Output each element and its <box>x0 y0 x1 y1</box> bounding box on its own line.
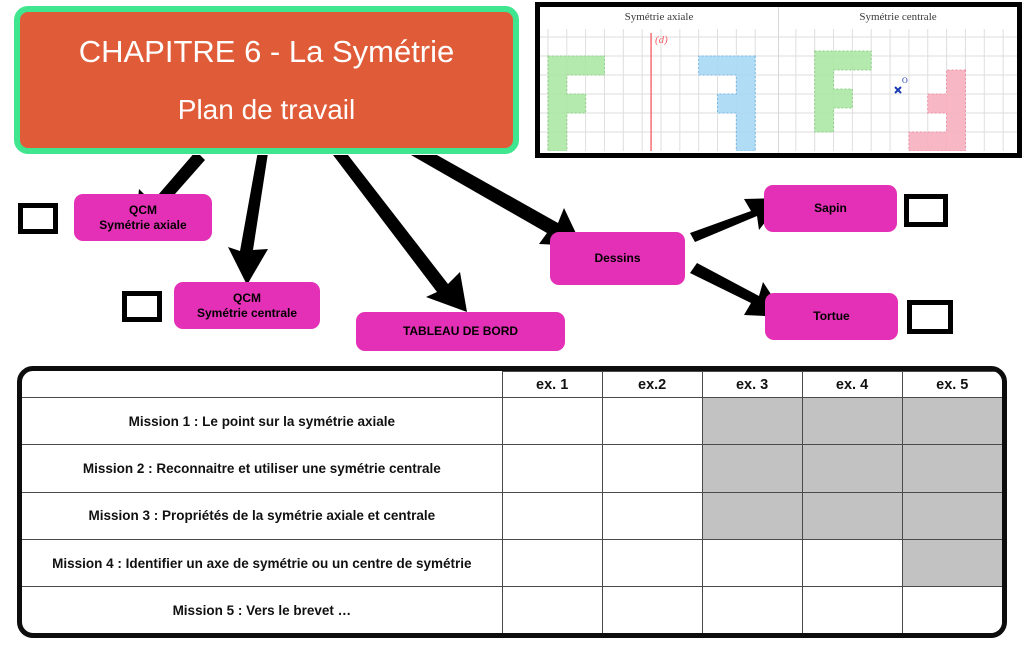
page-title: CHAPITRE 6 - La Symétrie <box>79 34 455 70</box>
symmetry-illustration-panel: Symétrie axiale <box>535 2 1022 158</box>
central-symmetry-figure: Symétrie centrale <box>779 7 1017 153</box>
table-row: Mission 2 : Reconnaitre et utiliser une … <box>22 445 1002 492</box>
mission-column-header <box>22 372 502 398</box>
mission-cell-disabled <box>902 492 1002 539</box>
mission-cell[interactable] <box>802 587 902 633</box>
mission-cell-disabled <box>702 445 802 492</box>
mission-table-container: ex. 1 ex.2 ex. 3 ex. 4 ex. 5 Mission 1 :… <box>17 366 1007 638</box>
mission-cell[interactable] <box>502 398 602 445</box>
table-header-row: ex. 1 ex.2 ex. 3 ex. 4 ex. 5 <box>22 372 1002 398</box>
checkbox-sapin[interactable] <box>904 194 948 227</box>
central-symmetry-canvas: O <box>779 29 1017 151</box>
node-dessins[interactable]: Dessins <box>550 232 685 285</box>
node-qcm-symetrie-axiale[interactable]: QCM Symétrie axiale <box>74 194 212 241</box>
node-line: Dessins <box>594 251 640 266</box>
node-line: TABLEAU DE BORD <box>403 324 518 339</box>
arrow-to-qcm-centrale <box>228 155 268 285</box>
workplan-flowchart: QCM Symétrie axiale QCM Symétrie central… <box>0 155 1024 360</box>
mission-cell-disabled <box>902 445 1002 492</box>
mission-cell[interactable] <box>602 398 702 445</box>
mission-cell-disabled <box>802 445 902 492</box>
mission-table-header: ex. 1 ex.2 ex. 3 ex. 4 ex. 5 <box>22 372 1002 398</box>
center-label: O <box>902 76 908 85</box>
green-f-shape <box>548 56 605 151</box>
node-line: QCM <box>233 291 261 306</box>
node-tortue[interactable]: Tortue <box>765 293 898 340</box>
central-symmetry-svg: O <box>779 29 1017 151</box>
center-of-symmetry-marker: O <box>895 76 908 93</box>
mission-cell[interactable] <box>602 539 702 586</box>
node-line: Tortue <box>813 309 849 324</box>
mission-label: Mission 5 : Vers le brevet … <box>22 587 502 633</box>
node-sapin[interactable]: Sapin <box>764 185 897 232</box>
page-subtitle: Plan de travail <box>178 94 355 126</box>
mission-cell-disabled <box>902 539 1002 586</box>
mission-cell-disabled <box>802 398 902 445</box>
node-tableau-de-bord[interactable]: TABLEAU DE BORD <box>356 312 565 351</box>
column-header-ex3: ex. 3 <box>702 372 802 398</box>
mission-cell[interactable] <box>602 492 702 539</box>
axial-symmetry-canvas: (d) <box>540 29 778 151</box>
axial-symmetry-caption: Symétrie axiale <box>540 11 778 23</box>
table-row: Mission 3 : Propriétés de la symétrie ax… <box>22 492 1002 539</box>
mission-label: Mission 4 : Identifier un axe de symétri… <box>22 539 502 586</box>
mission-cell[interactable] <box>702 539 802 586</box>
mission-cell[interactable] <box>502 587 602 633</box>
mission-cell[interactable] <box>602 445 702 492</box>
mission-label: Mission 2 : Reconnaitre et utiliser une … <box>22 445 502 492</box>
mission-cell[interactable] <box>602 587 702 633</box>
mission-cell[interactable] <box>802 539 902 586</box>
table-row: Mission 5 : Vers le brevet … <box>22 587 1002 633</box>
axial-symmetry-figure: Symétrie axiale <box>540 7 779 153</box>
mission-cell[interactable] <box>502 492 602 539</box>
mission-cell-disabled <box>702 492 802 539</box>
node-line: Sapin <box>814 201 847 216</box>
table-row: Mission 4 : Identifier un axe de symétri… <box>22 539 1002 586</box>
column-header-ex4: ex. 4 <box>802 372 902 398</box>
green-f-shape <box>815 51 872 132</box>
node-line: Symétrie axiale <box>99 218 186 233</box>
node-qcm-symetrie-centrale[interactable]: QCM Symétrie centrale <box>174 282 320 329</box>
mission-table: ex. 1 ex.2 ex. 3 ex. 4 ex. 5 Mission 1 :… <box>22 371 1002 633</box>
mission-table-body: Mission 1 : Le point sur la symétrie axi… <box>22 398 1002 634</box>
checkbox-tortue[interactable] <box>907 300 953 334</box>
central-symmetry-caption: Symétrie centrale <box>779 11 1017 23</box>
node-line: Symétrie centrale <box>197 306 297 321</box>
blue-mirrored-f-shape <box>699 56 756 151</box>
mission-cell[interactable] <box>502 539 602 586</box>
mission-cell-disabled <box>802 492 902 539</box>
mission-label: Mission 1 : Le point sur la symétrie axi… <box>22 398 502 445</box>
checkbox-qcm-symetrie-axiale[interactable] <box>18 203 58 234</box>
chapter-title-card: CHAPITRE 6 - La Symétrie Plan de travail <box>14 6 519 154</box>
column-header-ex2: ex.2 <box>602 372 702 398</box>
pink-rotated-f-shape <box>909 70 966 151</box>
mission-cell-disabled <box>902 398 1002 445</box>
node-line: QCM <box>129 203 157 218</box>
column-header-ex5: ex. 5 <box>902 372 1002 398</box>
mission-cell[interactable] <box>502 445 602 492</box>
mission-cell[interactable] <box>902 587 1002 633</box>
mission-cell[interactable] <box>702 587 802 633</box>
axis-label: (d) <box>655 34 668 46</box>
axial-symmetry-svg: (d) <box>540 29 778 151</box>
checkbox-qcm-symetrie-centrale[interactable] <box>122 291 162 322</box>
column-header-ex1: ex. 1 <box>502 372 602 398</box>
table-row: Mission 1 : Le point sur la symétrie axi… <box>22 398 1002 445</box>
mission-label: Mission 3 : Propriétés de la symétrie ax… <box>22 492 502 539</box>
mission-cell-disabled <box>702 398 802 445</box>
arrow-to-tableau-bord <box>330 155 467 312</box>
